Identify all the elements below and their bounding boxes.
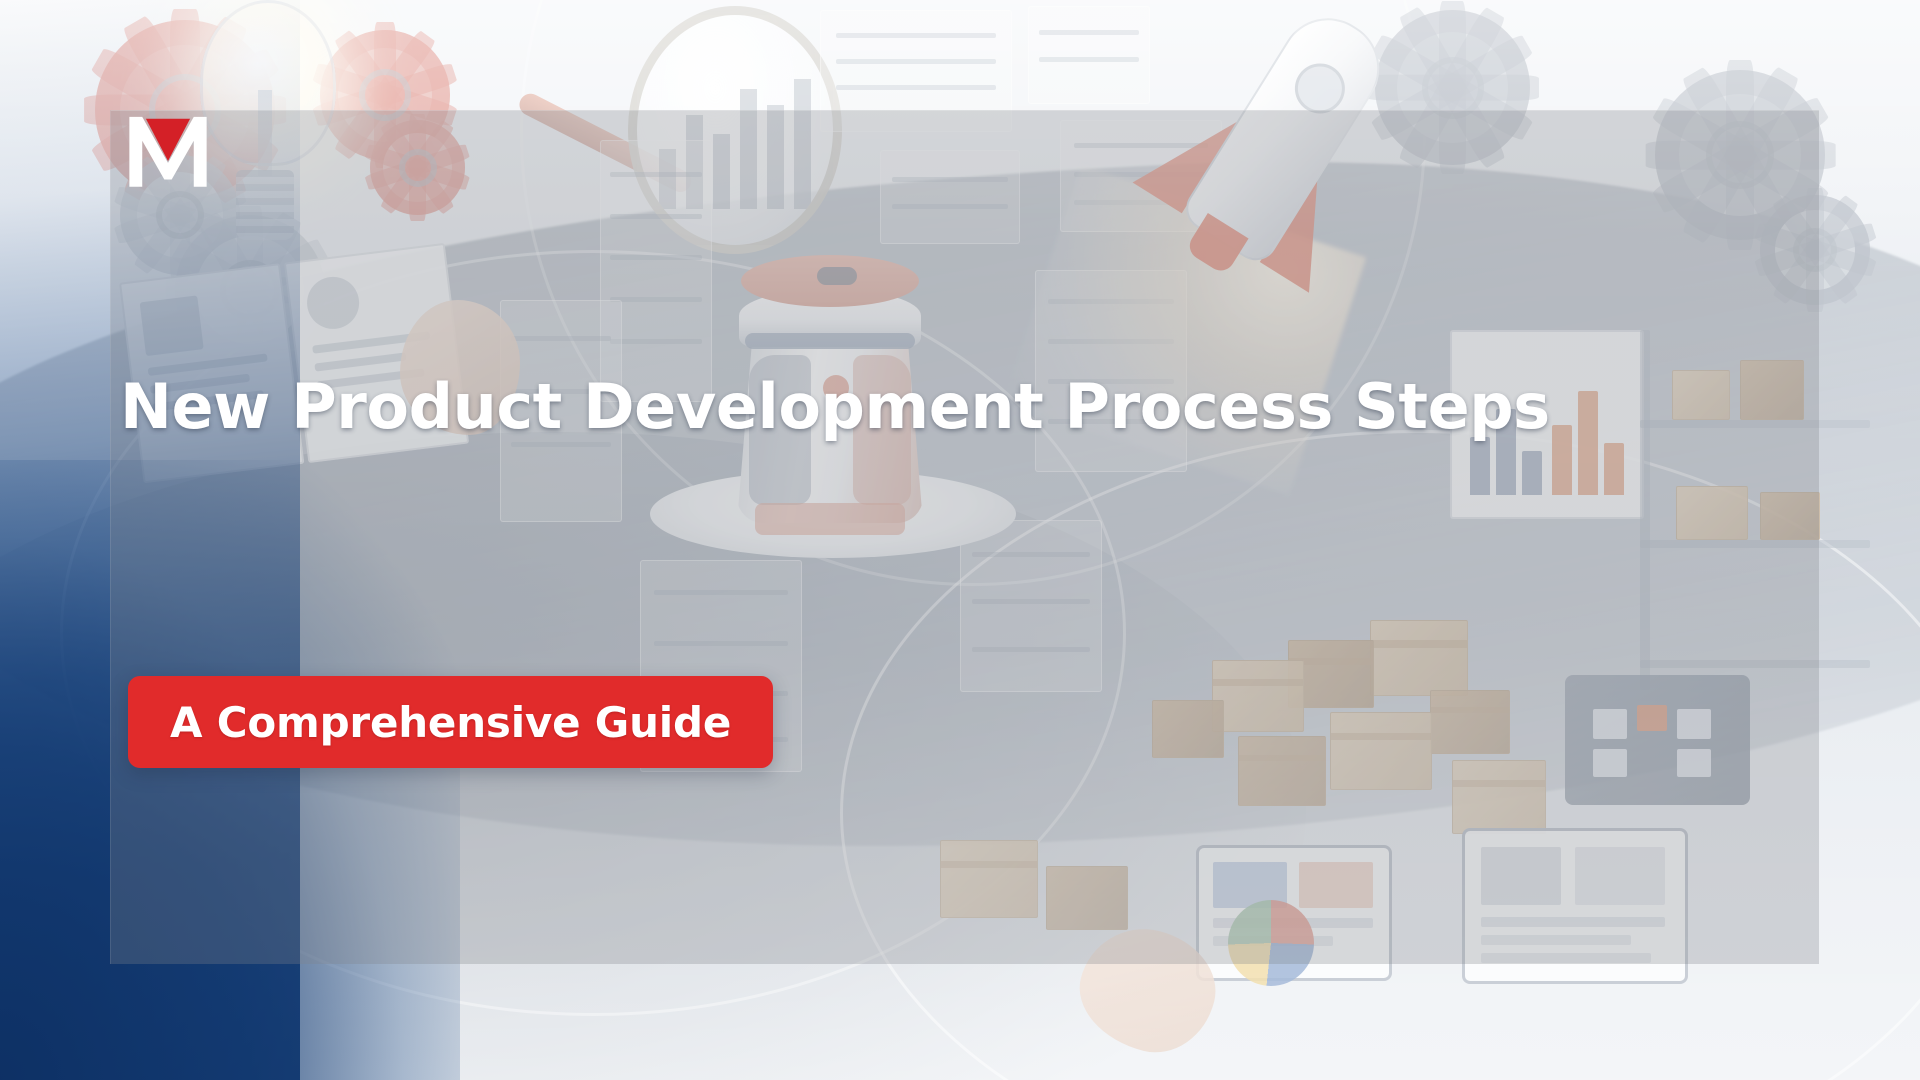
banner-content: New Product Development Process Steps A … bbox=[0, 0, 1920, 1080]
m-monogram-logo[interactable] bbox=[122, 104, 214, 196]
hero-banner: New Product Development Process Steps A … bbox=[0, 0, 1920, 1080]
page-title: New Product Development Process Steps bbox=[120, 372, 1820, 441]
subtitle-badge: A Comprehensive Guide bbox=[128, 676, 773, 768]
